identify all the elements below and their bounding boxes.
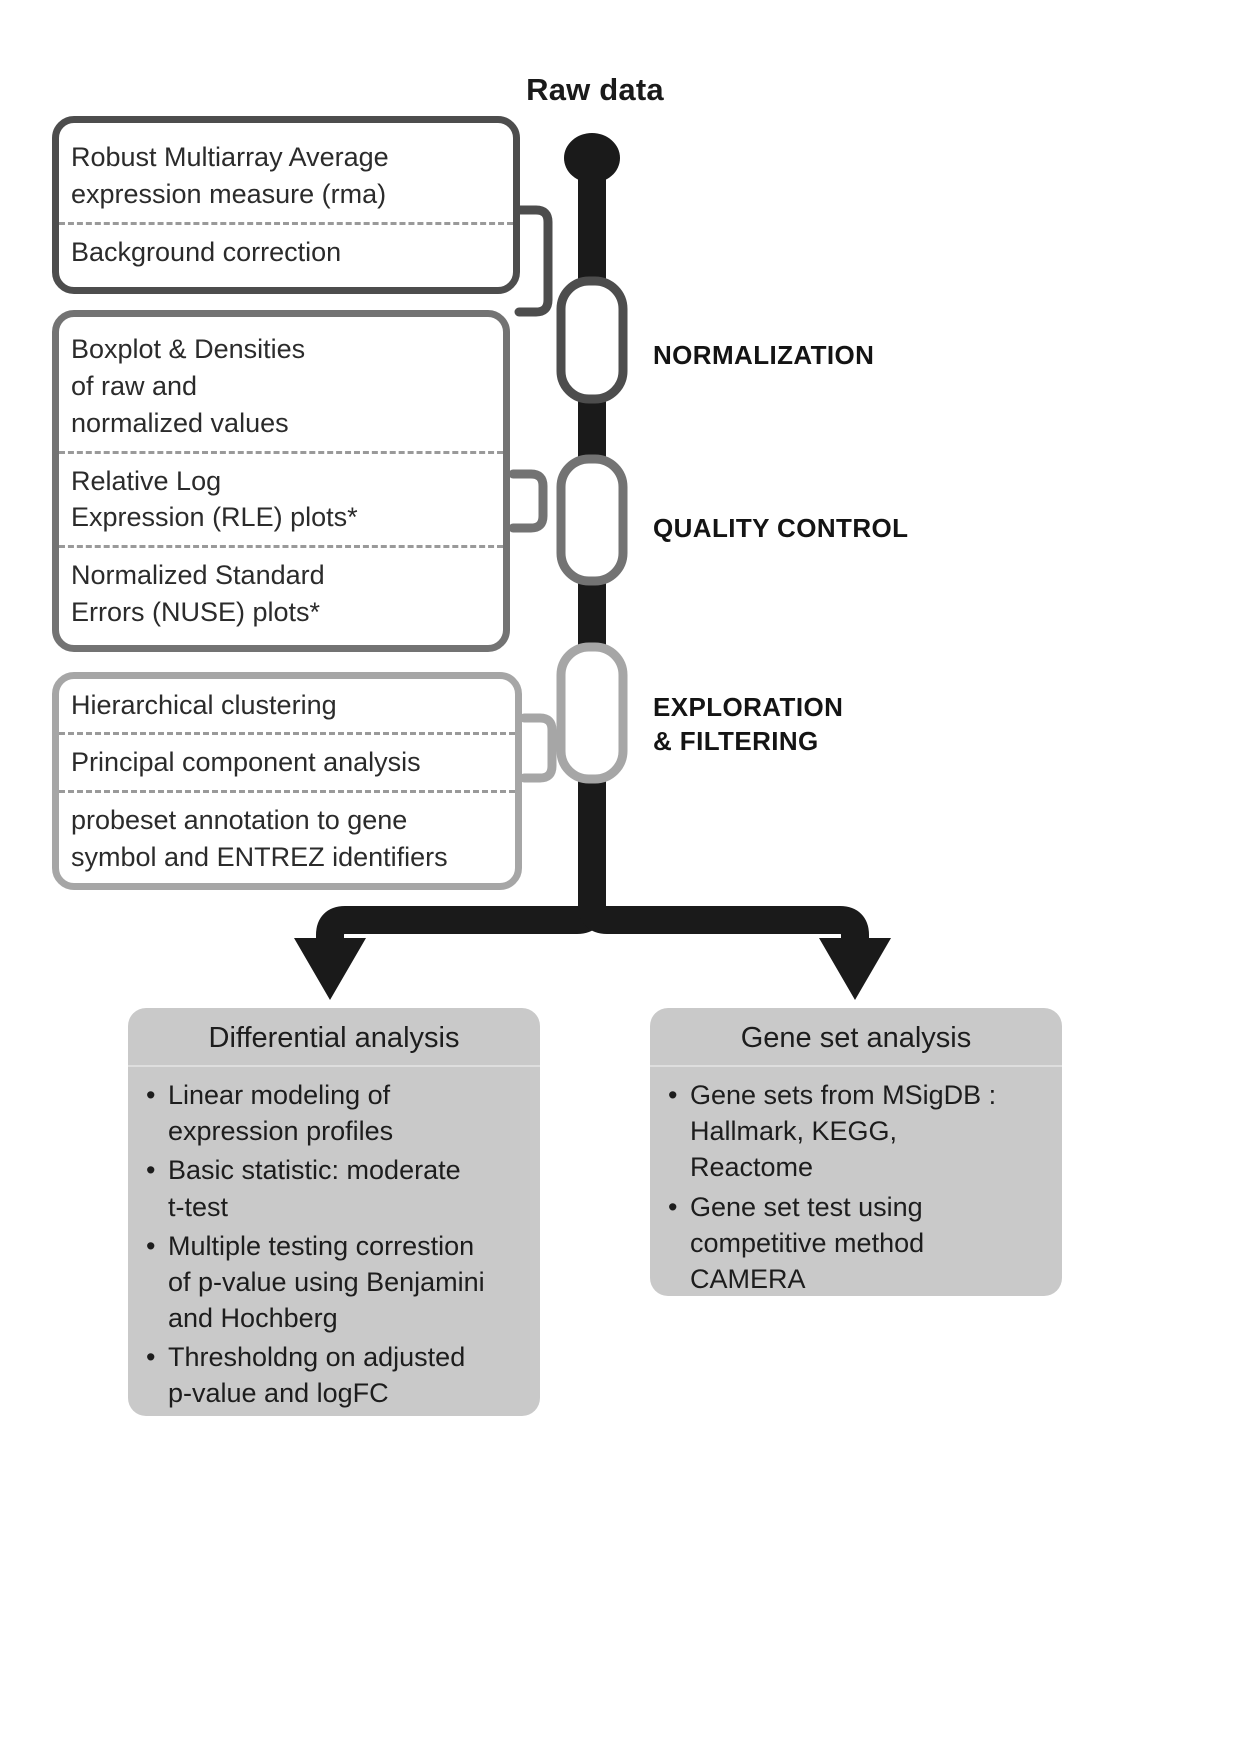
- list-item: •Thresholdng on adjusted p-value and log…: [168, 1339, 522, 1411]
- list-item: •Gene sets from MSigDB : Hallmark, KEGG,…: [690, 1077, 1044, 1186]
- panel-title: Gene set analysis: [650, 1008, 1062, 1067]
- list-item: •Linear modeling of expression profiles: [168, 1077, 522, 1149]
- bullet-icon: •: [668, 1189, 677, 1225]
- workflow-diagram: Raw data Robust Multiarray Average expre…: [0, 0, 1240, 1753]
- list-item-text: Thresholdng on adjusted p-value and logF…: [168, 1342, 465, 1408]
- stage-label-exploration: EXPLORATION & FILTERING: [653, 690, 843, 759]
- stage-row: Boxplot & Densities of raw and normalize…: [59, 322, 503, 450]
- stage-row: probeset annotation to gene symbol and E…: [59, 790, 515, 884]
- bullet-icon: •: [668, 1077, 677, 1113]
- list-item-text: Linear modeling of expression profiles: [168, 1080, 393, 1146]
- capsule-exploration: [561, 647, 623, 779]
- panel-gene-set-analysis: Gene set analysis •Gene sets from MSigDB…: [650, 1008, 1062, 1296]
- capsule-quality: [561, 459, 623, 581]
- stage-box-quality-control: Boxplot & Densities of raw and normalize…: [52, 310, 510, 652]
- branch-right-path: [592, 880, 855, 952]
- panel-list: •Linear modeling of expression profiles …: [128, 1067, 540, 1429]
- list-item: •Gene set test using competitive method …: [690, 1189, 1044, 1298]
- stage-box-normalization: Robust Multiarray Average expression mea…: [52, 116, 520, 294]
- stage-row: Normalized Standard Errors (NUSE) plots*: [59, 545, 503, 639]
- stage-row: Background correction: [59, 222, 513, 280]
- stage-row: Relative Log Expression (RLE) plots*: [59, 451, 503, 545]
- stage-label-quality-control: QUALITY CONTROL: [653, 511, 908, 545]
- stage-row: Hierarchical clustering: [59, 678, 515, 733]
- connector-normalization: [519, 210, 548, 312]
- capsule-normalization: [561, 281, 623, 399]
- list-item-text: Multiple testing correstion of p-value u…: [168, 1231, 485, 1333]
- connector-quality: [513, 474, 543, 528]
- branch-left-path: [330, 880, 592, 952]
- bullet-icon: •: [146, 1077, 155, 1113]
- arrow-down-right-icon: [819, 938, 891, 1000]
- stage-row: Principal component analysis: [59, 732, 515, 790]
- list-item-text: Gene set test using competitive method C…: [690, 1192, 924, 1294]
- bullet-icon: •: [146, 1339, 155, 1375]
- panel-differential-analysis: Differential analysis •Linear modeling o…: [128, 1008, 540, 1416]
- list-item-text: Basic statistic: moderate t-test: [168, 1155, 461, 1221]
- stage-row: Robust Multiarray Average expression mea…: [59, 130, 513, 221]
- bullet-icon: •: [146, 1228, 155, 1264]
- arrow-down-left-icon: [294, 938, 366, 1000]
- bullet-icon: •: [146, 1152, 155, 1188]
- panel-list: •Gene sets from MSigDB : Hallmark, KEGG,…: [650, 1067, 1062, 1314]
- list-item-text: Gene sets from MSigDB : Hallmark, KEGG, …: [690, 1080, 996, 1182]
- stage-box-exploration: Hierarchical clustering Principal compon…: [52, 672, 522, 890]
- stage-label-normalization: NORMALIZATION: [653, 338, 874, 372]
- list-item: •Multiple testing correstion of p-value …: [168, 1228, 522, 1337]
- connector-exploration: [524, 718, 552, 778]
- panel-title: Differential analysis: [128, 1008, 540, 1067]
- list-item: •Basic statistic: moderate t-test: [168, 1152, 522, 1224]
